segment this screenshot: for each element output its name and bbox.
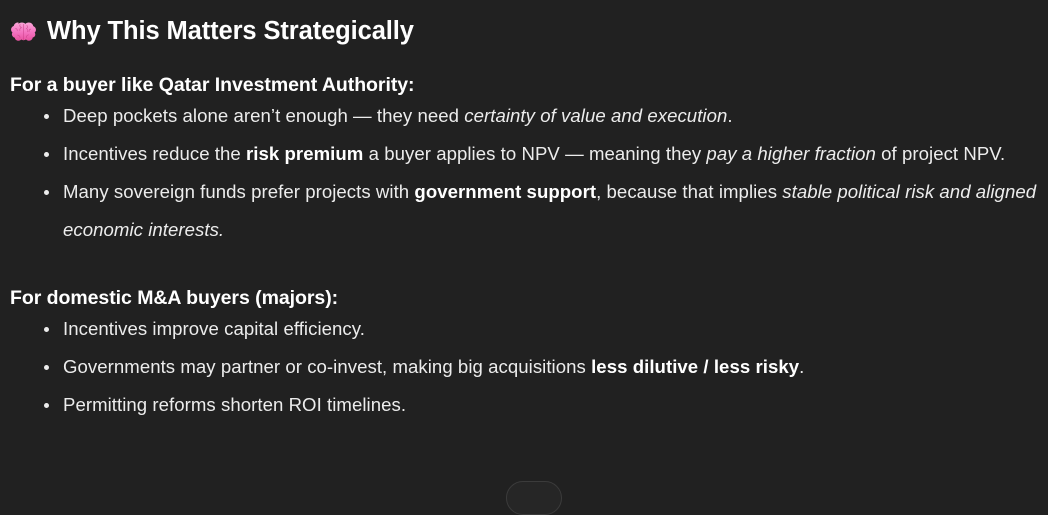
page-title: Why This Matters Strategically	[47, 17, 414, 46]
bullet-text-fragment: a buyer applies to NPV — meaning they	[363, 143, 706, 164]
brain-icon	[10, 19, 37, 46]
page-title-row: Why This Matters Strategically	[10, 12, 1038, 52]
section-heading-domestic-ma: For domestic M&A buyers (majors):	[10, 287, 1038, 310]
bullet-text-fragment: of project NPV.	[876, 143, 1005, 164]
bullet-text-fragment: , because that implies	[596, 181, 782, 202]
bullet-text-strong: government support	[414, 181, 596, 202]
bullet-text-fragment: Deep pockets alone aren’t enough — they …	[63, 105, 464, 126]
list-item: Many sovereign funds prefer projects wit…	[10, 173, 1038, 249]
bullet-text-fragment: Incentives reduce the	[63, 143, 246, 164]
bullet-text-fragment: Many sovereign funds prefer projects wit…	[63, 181, 414, 202]
bullet-text-fragment: .	[727, 105, 732, 126]
bullet-text-fragment: .	[799, 356, 804, 377]
bullet-text-fragment: Governments may partner or co-invest, ma…	[63, 356, 591, 377]
list-item: Incentives improve capital efficiency.	[10, 310, 1038, 348]
bullet-text-emphasis: certainty of value and execution	[464, 105, 727, 126]
section-heading-buyer-qia: For a buyer like Qatar Investment Author…	[10, 74, 1038, 97]
list-item: Incentives reduce the risk premium a buy…	[10, 135, 1038, 173]
scroll-to-bottom-pill[interactable]	[506, 481, 562, 515]
message-panel: Why This Matters Strategically For a buy…	[0, 0, 1048, 492]
list-item: Permitting reforms shorten ROI timelines…	[10, 386, 1038, 424]
bullet-text-fragment: Permitting reforms shorten ROI timelines…	[63, 394, 406, 415]
list-item: Governments may partner or co-invest, ma…	[10, 348, 1038, 386]
list-item: Deep pockets alone aren’t enough — they …	[10, 97, 1038, 135]
bullet-list-buyer-qia: Deep pockets alone aren’t enough — they …	[10, 97, 1038, 249]
bullet-list-domestic-ma: Incentives improve capital efficiency. G…	[10, 310, 1038, 424]
bullet-text-strong: risk premium	[246, 143, 363, 164]
bullet-text-emphasis: pay a higher fraction	[706, 143, 876, 164]
bullet-text-fragment: Incentives improve capital efficiency.	[63, 318, 365, 339]
bullet-text-strong: less dilutive / less risky	[591, 356, 799, 377]
